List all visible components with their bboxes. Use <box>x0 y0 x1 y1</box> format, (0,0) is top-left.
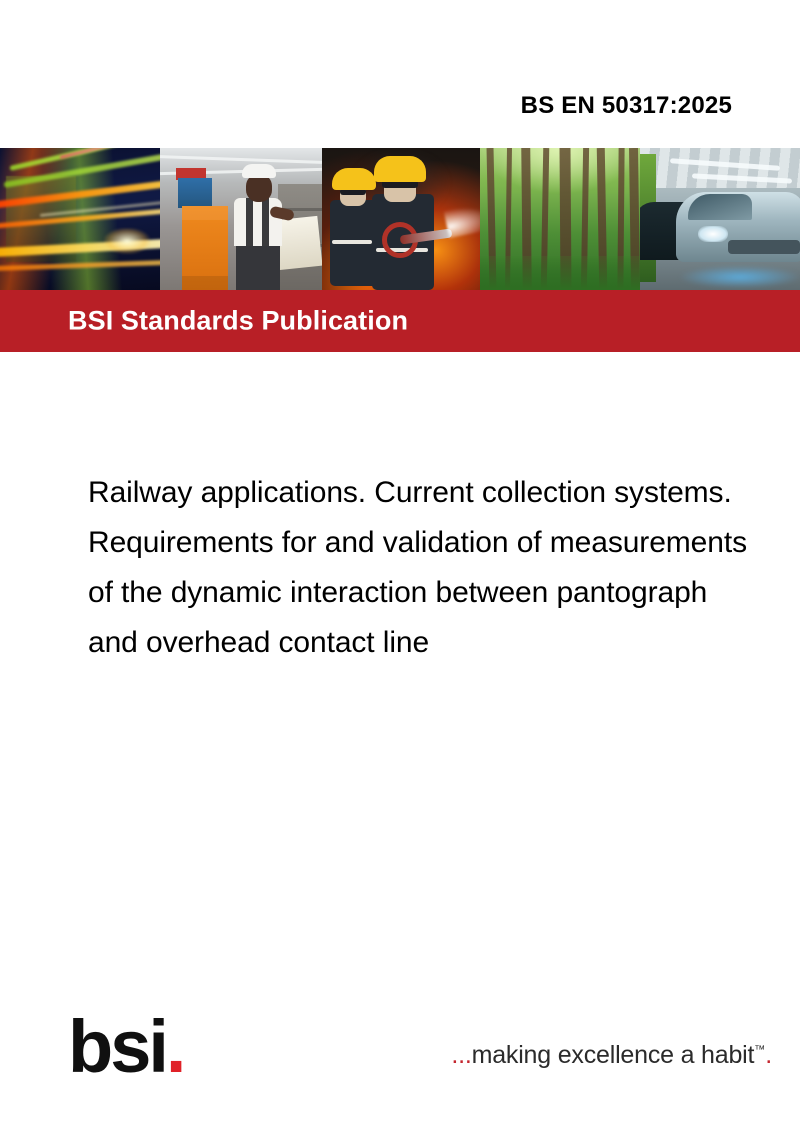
blue-crate <box>178 178 212 208</box>
worker-head <box>246 174 272 202</box>
title-line-2: Requirements for and validation of measu… <box>88 518 800 568</box>
bsi-logo: bsi. <box>68 1010 183 1084</box>
bsi-logo-dot: . <box>166 1005 184 1088</box>
car-assembly-photo <box>640 148 800 290</box>
banner-label: BSI Standards Publication <box>68 306 408 337</box>
warehouse-worker-photo <box>160 148 322 290</box>
bsi-standards-banner: BSI Standards Publication <box>0 290 800 352</box>
tagline-endstop: . <box>765 1041 772 1069</box>
title-line-3: of the dynamic interaction between panto… <box>88 568 800 618</box>
photo-strip <box>0 148 800 290</box>
tagline-text: making excellence a habit <box>472 1041 755 1069</box>
bsi-tagline: ...making excellence a habit™. <box>451 1041 772 1070</box>
page-title: Railway applications. Current collection… <box>88 468 800 668</box>
front-yellow-helmet <box>374 156 426 182</box>
assembly-floor-glow <box>680 266 800 288</box>
worker-strap-left <box>246 198 253 246</box>
forest-photo <box>480 148 640 290</box>
worker-white-cap <box>242 164 276 178</box>
title-line-1: Railway applications. Current collection… <box>88 468 800 518</box>
headlight-glow <box>104 228 150 254</box>
bsi-logo-text: bsi <box>68 1005 166 1088</box>
car-grille <box>728 240 800 254</box>
firefighters-photo <box>322 148 480 290</box>
forest-undergrowth <box>480 256 640 290</box>
night-light-trails-photo <box>0 148 160 290</box>
car-headlight <box>698 226 728 242</box>
worker-trousers <box>236 244 280 290</box>
standard-number: BS EN 50317:2025 <box>521 92 732 120</box>
title-line-4: and overhead contact line <box>88 618 800 668</box>
rear-reflective-stripe <box>332 240 372 244</box>
car-windshield <box>688 194 752 220</box>
tagline-leading-ellipsis: ... <box>451 1041 471 1069</box>
trademark-icon: ™ <box>754 1044 765 1056</box>
worker-shirt <box>234 198 282 246</box>
worker-strap-right <box>262 198 269 246</box>
worker-figure <box>232 164 284 290</box>
orange-crate <box>182 206 228 290</box>
rear-yellow-helmet <box>332 168 376 190</box>
